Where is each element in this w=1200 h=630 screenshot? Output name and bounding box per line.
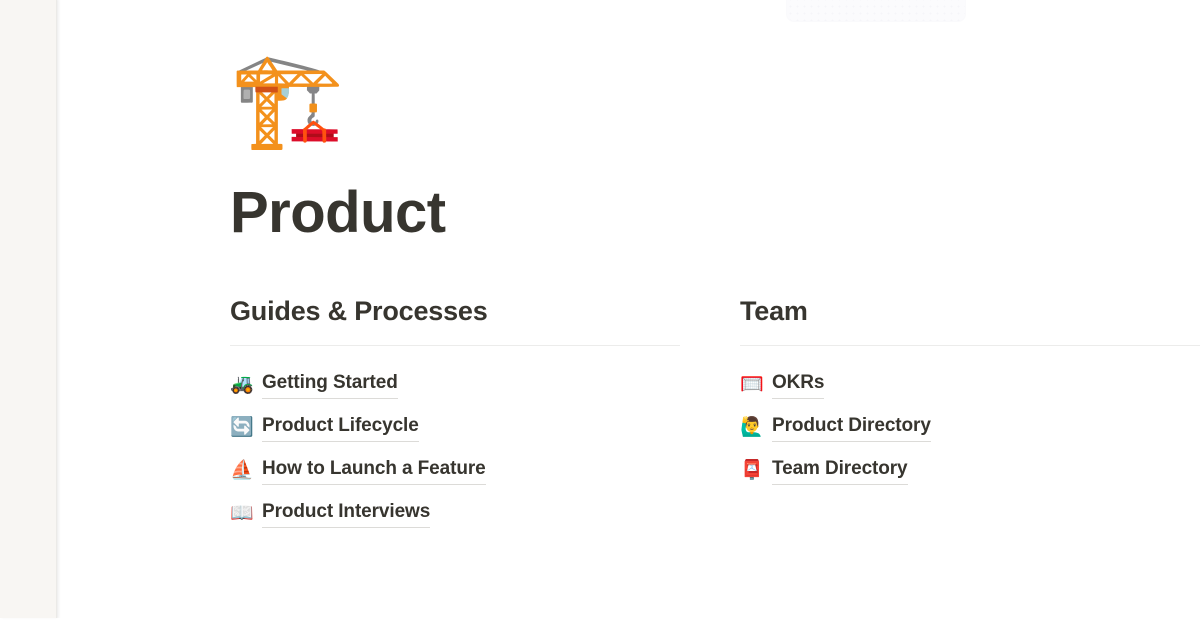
list-item[interactable]: 📮 Team Directory bbox=[740, 449, 1200, 492]
list-item[interactable]: 🔄 Product Lifecycle bbox=[230, 406, 740, 449]
collapsed-sidebar-rail[interactable] bbox=[0, 0, 57, 618]
page-body: 🏗️ Product Guides & Processes 🚜 Getting … bbox=[61, 46, 1200, 535]
floating-toolbar-chip[interactable] bbox=[786, 0, 966, 22]
link-list-guides: 🚜 Getting Started 🔄 Product Lifecycle ⛵ … bbox=[230, 363, 740, 535]
link-label[interactable]: Product Directory bbox=[772, 413, 931, 442]
refresh-cycle-icon: 🔄 bbox=[230, 418, 253, 437]
postbox-icon: 📮 bbox=[740, 461, 763, 480]
link-label[interactable]: Product Lifecycle bbox=[262, 413, 419, 442]
person-raising-hand-icon: 🙋‍♂️ bbox=[740, 418, 763, 437]
page-content-area: 🏗️ Product Guides & Processes 🚜 Getting … bbox=[61, 0, 1200, 630]
construction-crane-icon[interactable]: 🏗️ bbox=[230, 46, 1200, 158]
app-window: 🏗️ Product Guides & Processes 🚜 Getting … bbox=[0, 0, 1200, 630]
list-item[interactable]: 🙋‍♂️ Product Directory bbox=[740, 406, 1200, 449]
column-guides: Guides & Processes 🚜 Getting Started 🔄 P… bbox=[230, 295, 740, 535]
link-label[interactable]: OKRs bbox=[772, 370, 824, 399]
list-item[interactable]: 🚜 Getting Started bbox=[230, 363, 740, 406]
toolbar-chip-texture bbox=[787, 0, 965, 21]
page-title: Product bbox=[230, 182, 1200, 243]
open-book-icon: 📖 bbox=[230, 504, 253, 523]
list-item[interactable]: 📖 Product Interviews bbox=[230, 492, 740, 535]
link-label[interactable]: Getting Started bbox=[262, 370, 398, 399]
column-header-guides: Guides & Processes bbox=[230, 295, 740, 329]
link-list-team: 🥅 OKRs 🙋‍♂️ Product Directory 📮 Team Dir… bbox=[740, 363, 1200, 492]
link-label[interactable]: How to Launch a Feature bbox=[262, 456, 486, 485]
link-columns: Guides & Processes 🚜 Getting Started 🔄 P… bbox=[230, 295, 1200, 535]
tractor-icon: 🚜 bbox=[230, 375, 253, 394]
link-label[interactable]: Product Interviews bbox=[262, 499, 430, 528]
sailboat-icon: ⛵ bbox=[230, 461, 253, 480]
list-item[interactable]: ⛵ How to Launch a Feature bbox=[230, 449, 740, 492]
column-divider-team bbox=[740, 345, 1200, 346]
column-divider-guides bbox=[230, 345, 680, 346]
goal-net-icon: 🥅 bbox=[740, 375, 763, 394]
column-header-team: Team bbox=[740, 295, 1200, 329]
column-team: Team 🥅 OKRs 🙋‍♂️ Product Directory 📮 bbox=[740, 295, 1200, 535]
link-label[interactable]: Team Directory bbox=[772, 456, 908, 485]
list-item[interactable]: 🥅 OKRs bbox=[740, 363, 1200, 406]
sidebar-edge-shadow bbox=[57, 0, 61, 618]
